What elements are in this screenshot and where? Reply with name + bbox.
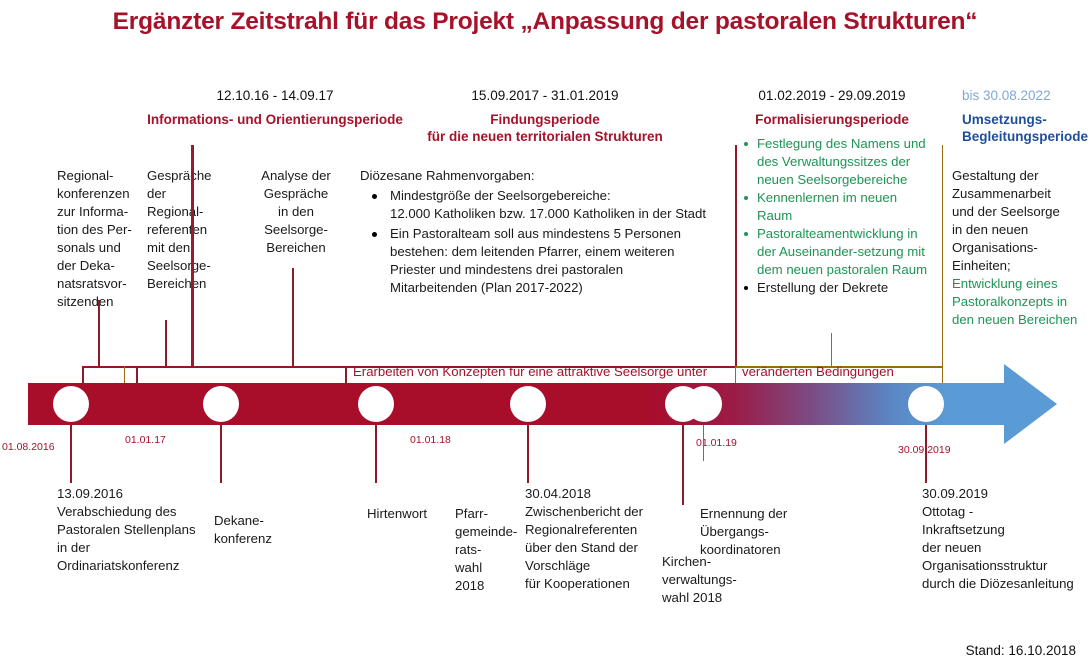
period-3-date: 01.02.2019 - 29.09.2019	[718, 88, 946, 105]
bar-date-2018-01: 01.01.18	[410, 434, 451, 446]
formalisierung-bullet-2: Kennenlernen im neuen Raum	[742, 189, 928, 225]
bracket-tick-1	[124, 366, 125, 384]
column-text-formalisierung: Festlegung des Namens und des Verwaltung…	[742, 135, 928, 297]
umsetzung-green-text: Entwicklung eines Pastoralkonzepts in de…	[952, 275, 1088, 329]
timeline-node-2016-09[interactable]	[203, 386, 239, 422]
bar-date-2017-01: 01.01.17	[125, 434, 166, 446]
bracket-right-vertical	[942, 366, 943, 384]
timeline-arrowhead-icon	[1004, 364, 1057, 444]
timeline-node-2017-hirtenwort[interactable]	[358, 386, 394, 422]
connector-line-col5	[831, 333, 832, 367]
period-header-3: 01.02.2019 - 29.09.2019 Formalisierungsp…	[718, 88, 946, 128]
bracket-left-vertical	[82, 366, 84, 384]
timeline-node-2018-pfarrgemeinderat[interactable]	[510, 386, 546, 422]
timeline-node-2016-08[interactable]	[53, 386, 89, 422]
umsetzung-black-text: Gestaltung der Zusammenarbeit und der Se…	[952, 167, 1088, 275]
leader-line-2	[220, 425, 222, 483]
leader-line-5	[682, 425, 684, 505]
column-text-gespraeche-regionalreferenten: Gespräche der Regional- referenten mit d…	[147, 167, 229, 293]
period-4-name-line1: Umsetzungs-	[962, 111, 1088, 129]
bottom-label-ottotag: 30.09.2019 Ottotag - Inkraftsetzung der …	[922, 485, 1090, 593]
bracket-tick-4	[735, 366, 736, 384]
bottom-label-hirtenwort: Hirtenwort	[367, 505, 457, 523]
leader-line-4	[527, 425, 529, 483]
band-label-part1: Erarbeiten von Konzepten für eine attrak…	[353, 364, 707, 379]
rahmenvorgaben-bullet-2-line3: Priester und mindestens drei pastoralen	[360, 261, 730, 279]
column-text-regionalkonferenzen: Regional- konferenzen zur Informa- tion …	[57, 167, 139, 311]
bottom-label-zwischenbericht: 30.04.2018 Zwischenbericht der Regionalr…	[525, 485, 673, 593]
bar-date-2016-08: 01.08.2016	[2, 441, 55, 453]
page-title: Ergänzter Zeitstrahl für das Projekt „An…	[0, 8, 1090, 36]
connector-line-col1	[98, 300, 100, 367]
column-text-umsetzung: Gestaltung der Zusammenarbeit und der Se…	[952, 167, 1088, 329]
leader-line-1	[70, 425, 72, 483]
timeline-node-2019-09-30[interactable]	[908, 386, 944, 422]
period-divider-line-1	[191, 145, 194, 367]
period-4-date: bis 30.08.2022	[962, 88, 1088, 105]
connector-line-col2	[165, 320, 167, 367]
period-divider-line-3	[942, 145, 943, 367]
bracket-tick-2	[136, 366, 138, 384]
period-header-2: 15.09.2017 - 31.01.2019 Findungsperiode …	[355, 88, 735, 146]
connector-line-col3	[292, 268, 294, 367]
column-text-analyse-gespraeche: Analyse der Gespräche in den Seelsorge- …	[243, 167, 349, 257]
bottom-label-pfarrgemeinderatswahl: Pfarr- gemeinde- rats- wahl 2018	[455, 505, 523, 595]
period-2-name-line2: für die neuen territorialen Strukturen	[355, 128, 735, 146]
band-label-part2: veränderten Bedingungen	[742, 364, 894, 379]
formalisierung-bullet-3: Pastoralteamentwicklung in der Auseinand…	[742, 225, 928, 279]
column-text-rahmenvorgaben: Diözesane Rahmenvorgaben: Mindestgröße d…	[360, 167, 730, 297]
rahmenvorgaben-bullet-2-line4: Mitarbeitenden (Plan 2017-2022)	[360, 279, 730, 297]
period-4-name-line2: Begleitungsperiode	[962, 128, 1088, 146]
leader-line-7	[925, 425, 927, 483]
footer-stand: Stand: 16.10.2018	[966, 643, 1076, 658]
timeline-node-2018-kirchenverwaltung[interactable]	[686, 386, 722, 422]
rahmenvorgaben-bullet-2-line2: bestehen: dem leitenden Pfarrer, einem w…	[360, 243, 730, 261]
bottom-label-dekanekonferenz: Dekane- konferenz	[214, 512, 304, 548]
rahmenvorgaben-bullet-1-line1: Mindestgröße der Seelsorgebereiche:	[360, 187, 730, 205]
period-2-name-line1: Findungsperiode	[355, 111, 735, 129]
rahmenvorgaben-heading: Diözesane Rahmenvorgaben:	[360, 167, 730, 185]
period-header-4: bis 30.08.2022 Umsetzungs- Begleitungspe…	[962, 88, 1088, 146]
leader-line-3	[375, 425, 377, 483]
formalisierung-bullet-4: Erstellung der Dekrete	[742, 279, 928, 297]
leader-line-6	[703, 425, 704, 461]
bottom-label-ernennung: Ernennung der Übergangs- koordinatoren	[700, 505, 830, 559]
bracket-tick-3	[345, 366, 347, 384]
rahmenvorgaben-bullet-2-line1: Ein Pastoralteam soll aus mindestens 5 P…	[360, 225, 730, 243]
bottom-label-kirchenverwaltungswahl: Kirchen- verwaltungs- wahl 2018	[662, 553, 772, 607]
period-divider-line-2	[735, 145, 737, 367]
formalisierung-bullet-1: Festlegung des Namens und des Verwaltung…	[742, 135, 928, 189]
period-3-name: Formalisierungsperiode	[718, 111, 946, 129]
period-2-date: 15.09.2017 - 31.01.2019	[355, 88, 735, 105]
rahmenvorgaben-bullet-1-line2: 12.000 Katholiken bzw. 17.000 Katholiken…	[360, 205, 730, 223]
bottom-label-verabschiedung: 13.09.2016 Verabschiedung des Pastoralen…	[57, 485, 217, 575]
